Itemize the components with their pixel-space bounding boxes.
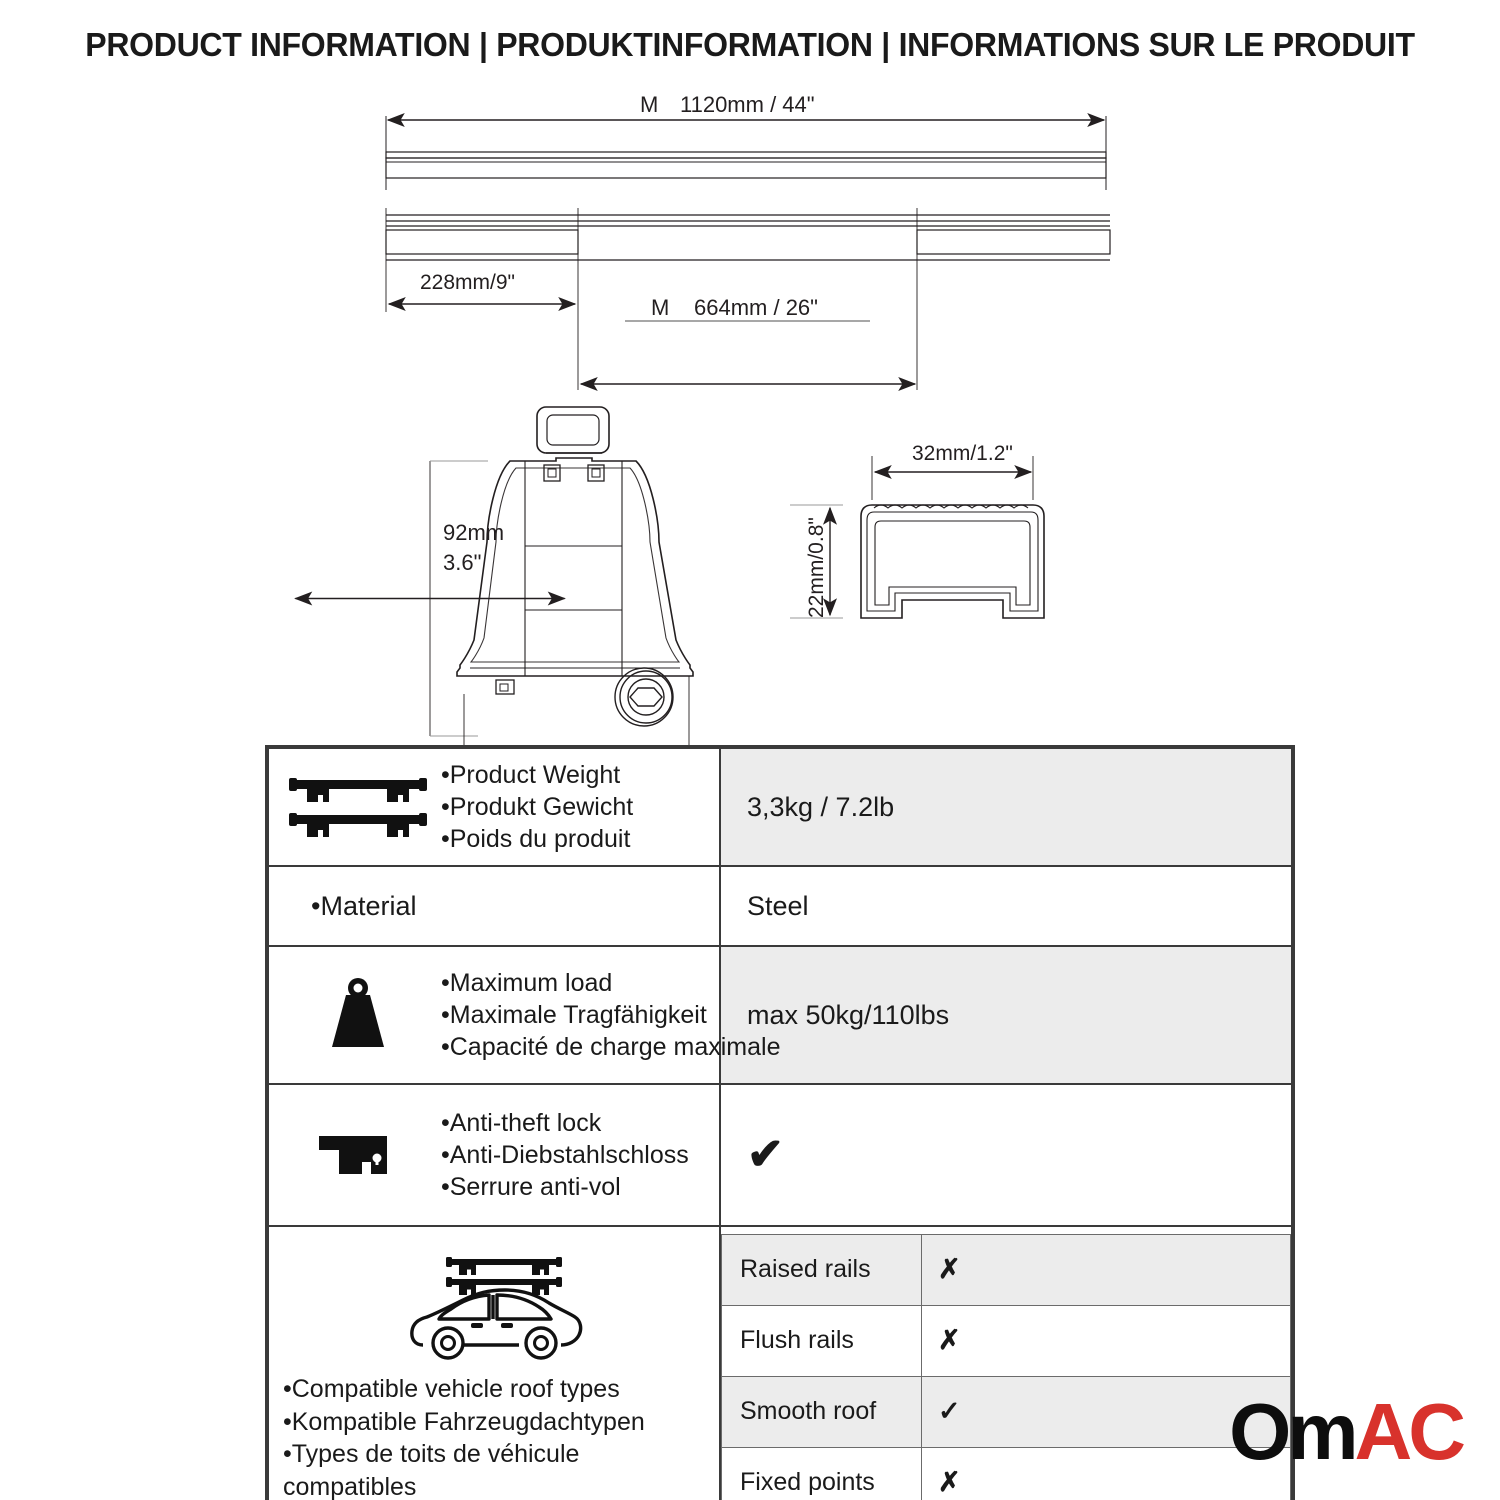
- drawing-svg: [0, 80, 1500, 740]
- table-row-material: •Material Steel: [268, 866, 1292, 946]
- table-row-roof-types: •Compatible vehicle roof types •Kompatib…: [268, 1226, 1292, 1500]
- lock-icon: [283, 1120, 433, 1190]
- roof-type-name: Fixed points: [722, 1447, 922, 1500]
- label-line: •Maximum load: [441, 967, 780, 999]
- roof-type-name: Smooth roof: [722, 1376, 922, 1447]
- roof-type-mark-cross: ✗: [922, 1234, 1291, 1305]
- row-label-lines: •Product Weight •Produkt Gewicht •Poids …: [441, 759, 633, 855]
- label-line: •Material: [269, 881, 719, 932]
- technical-drawing: M 1120mm / 44": [0, 80, 1500, 740]
- row-label-cell: •Anti-theft lock •Anti-Diebstahlschloss …: [268, 1084, 720, 1226]
- row-label-cell: •Product Weight •Produkt Gewicht •Poids …: [268, 748, 720, 866]
- span-prefix: M: [651, 295, 669, 321]
- roof-type-row: Raised rails ✗: [722, 1234, 1291, 1305]
- label-line: •Compatible vehicle roof types: [283, 1373, 709, 1406]
- roof-types-subtable-cell: Raised rails ✗ Flush rails ✗ Smooth roof…: [720, 1226, 1292, 1500]
- roof-label-lines: •Compatible vehicle roof types •Kompatib…: [283, 1373, 709, 1500]
- label-line: •Serrure anti-vol: [441, 1171, 689, 1203]
- label-line: •Types de toits de véhicule compatibles: [283, 1438, 709, 1500]
- table-row-product-weight: •Product Weight •Produkt Gewicht •Poids …: [268, 748, 1292, 866]
- foot-height-line2: 3.6": [443, 550, 481, 576]
- logo-text-black: Om: [1229, 1386, 1354, 1478]
- row-value-product-weight: 3,3kg / 7.2lb: [720, 748, 1292, 866]
- label-line: •Poids du produit: [441, 823, 633, 855]
- weight-icon: [283, 975, 433, 1055]
- row-label-lines: •Anti-theft lock •Anti-Diebstahlschloss …: [441, 1107, 689, 1203]
- product-information-page: PRODUCT INFORMATION | PRODUKTINFORMATION…: [0, 0, 1500, 1500]
- logo-text-red: AC: [1354, 1386, 1462, 1478]
- roof-type-row: Fixed points ✗: [722, 1447, 1291, 1500]
- roof-type-row: Smooth roof ✓: [722, 1376, 1291, 1447]
- table-row-maximum-load: •Maximum load •Maximale Tragfähigkeit •C…: [268, 946, 1292, 1084]
- specification-table: •Product Weight •Produkt Gewicht •Poids …: [265, 745, 1295, 1500]
- roof-type-name: Flush rails: [722, 1305, 922, 1376]
- row-value-maximum-load: max 50kg/110lbs: [720, 946, 1292, 1084]
- roof-type-name: Raised rails: [722, 1234, 922, 1305]
- row-label-cell: •Material: [268, 866, 720, 946]
- foot-height-line1: 92mm: [443, 520, 504, 546]
- roof-type-row: Flush rails ✗: [722, 1305, 1291, 1376]
- label-line: •Maximale Tragfähigkeit: [441, 999, 780, 1031]
- row-value-material: Steel: [720, 866, 1292, 946]
- row-label-lines: •Maximum load •Maximale Tragfähigkeit •C…: [441, 967, 780, 1063]
- row-label-cell: •Maximum load •Maximale Tragfähigkeit •C…: [268, 946, 720, 1084]
- foot-offset-label: 228mm/9": [420, 271, 515, 295]
- label-line: •Produkt Gewicht: [441, 791, 633, 823]
- label-line: •Anti-theft lock: [441, 1107, 689, 1139]
- page-header: PRODUCT INFORMATION | PRODUKTINFORMATION…: [0, 26, 1500, 64]
- row-label-cell: •Compatible vehicle roof types •Kompatib…: [268, 1226, 720, 1500]
- label-line: •Anti-Diebstahlschloss: [441, 1139, 689, 1171]
- table-row-anti-theft-lock: •Anti-theft lock •Anti-Diebstahlschloss …: [268, 1084, 1292, 1226]
- label-line: •Product Weight: [441, 759, 633, 791]
- row-value-anti-theft-lock: ✔: [720, 1084, 1292, 1226]
- label-line: •Capacité de charge maximale: [441, 1031, 780, 1063]
- label-line: •Kompatible Fahrzeugdachtypen: [283, 1406, 709, 1439]
- omac-logo: Om AC: [1229, 1386, 1462, 1478]
- roof-bars-icon: [283, 767, 433, 847]
- check-icon: ✔: [747, 1133, 784, 1177]
- profile-height-label: 22mm/0.8": [805, 517, 829, 618]
- roof-type-mark-cross: ✗: [922, 1305, 1291, 1376]
- span-value: 664mm / 26": [694, 295, 818, 321]
- page-title: PRODUCT INFORMATION | PRODUKTINFORMATION…: [23, 26, 1478, 64]
- car-with-rack-icon: [283, 1249, 709, 1373]
- profile-width-label: 32mm/1.2": [912, 442, 1013, 466]
